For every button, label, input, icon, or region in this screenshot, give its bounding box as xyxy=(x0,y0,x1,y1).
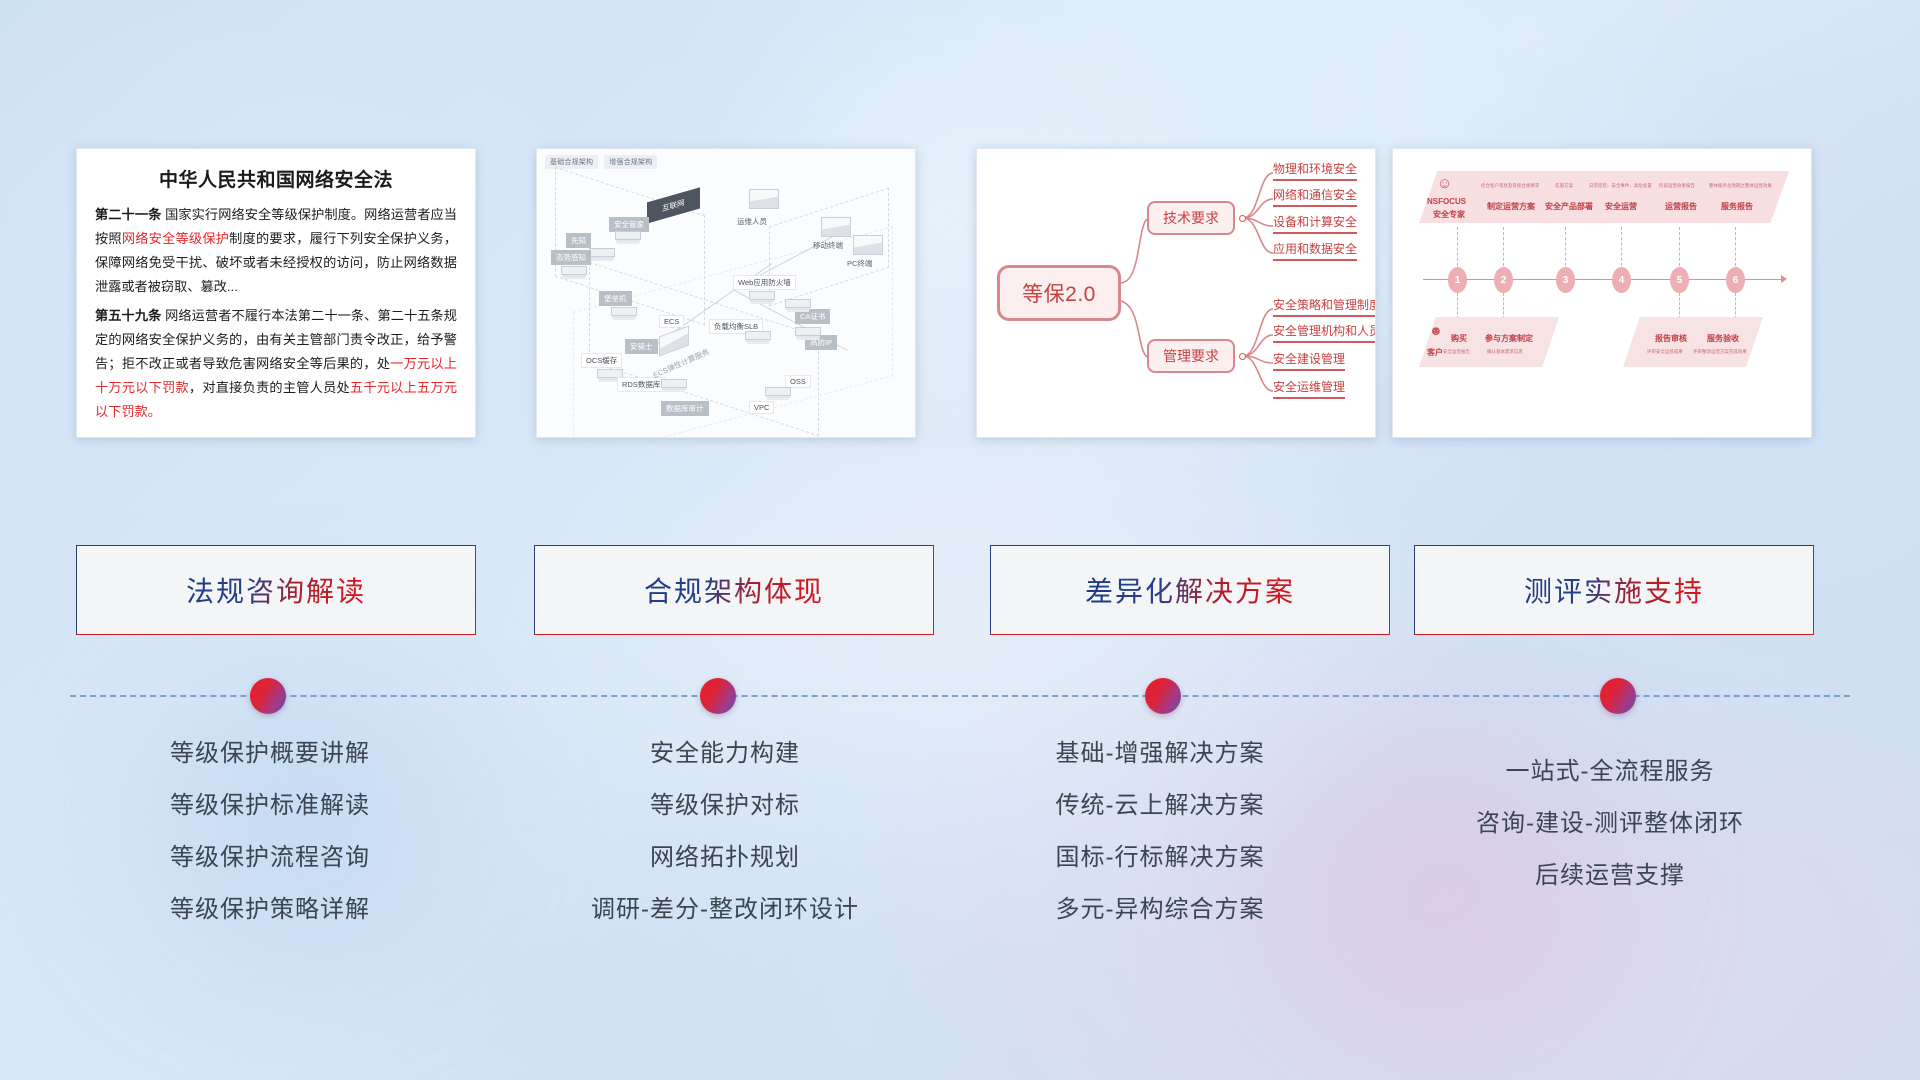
node-xianzhi-icon xyxy=(589,248,615,257)
list-item: 等级保护策略详解 xyxy=(50,898,490,922)
list-item: 等级保护对标 xyxy=(505,794,945,818)
card-service-flow: ☺ NSFOCUS 安全专家 结合客户现状及等保合规要求 制定运营方案 实施方案… xyxy=(1392,148,1812,438)
flow-dash-1 xyxy=(1457,227,1458,271)
mind-map-leaf-mgmt-2: 安全管理机构和人员 xyxy=(1273,323,1376,343)
article-59-label: 第五十九条 xyxy=(95,308,161,323)
list-item: 等级保护标准解读 xyxy=(50,794,490,818)
flow-dash-2 xyxy=(1503,227,1504,271)
list-item: 网络拓扑规划 xyxy=(505,846,945,870)
flow-dash-3 xyxy=(1565,227,1566,271)
bullet-column-4: 一站式-全流程服务 咨询-建设-测评整体闭环 后续运营支撑 xyxy=(1390,760,1830,916)
title-label-3: 差异化解决方案 xyxy=(1085,570,1295,610)
flow-banner-title-5: 服务报告 xyxy=(1721,201,1753,212)
mind-map-collapse-dot-management[interactable] xyxy=(1239,353,1246,360)
node-rds-icon xyxy=(661,379,687,388)
card-mind-map: 等保2.0 技术要求 物理和环境安全 网络和通信安全 设备和计算安全 应用和数据… xyxy=(976,148,1376,438)
flow-dash-down-6 xyxy=(1735,293,1736,319)
flow-tile-title-3: 报告审核 xyxy=(1655,333,1687,344)
card-law-text: 中华人民共和国网络安全法 第二十一条 国家实行网络安全等级保护制度。网络运营者应… xyxy=(76,148,476,438)
flow-dash-down-5 xyxy=(1679,293,1680,319)
list-item: 等级保护概要讲解 xyxy=(50,742,490,766)
list-item: 后续运营支撑 xyxy=(1390,864,1830,888)
node-ops-staff-label: 运维人员 xyxy=(733,215,771,228)
card-row: 中华人民共和国网络安全法 第二十一条 国家实行网络安全等级保护制度。网络运营者应… xyxy=(0,148,1920,448)
flow-step-5: 5 xyxy=(1670,267,1689,293)
flow-step-4: 4 xyxy=(1612,267,1631,293)
node-situation-awareness-label: 态势感知 xyxy=(551,250,591,265)
card-architecture-diagram: 基础合规架构 增强合规架构 互联网 安全管家 先知 态势感知 堡垒机 安骑士 xyxy=(536,148,916,438)
flow-banner-caption-2: 实施方案 xyxy=(1555,183,1573,189)
mind-map-leaf-tech-4: 应用和数据安全 xyxy=(1273,241,1357,261)
node-ops-staff-icon xyxy=(749,189,779,209)
flow-banner-caption-5: 整体服务总周期之整体运营效果 xyxy=(1709,183,1772,189)
node-mobile-terminal-label: 移动终端 xyxy=(809,239,847,252)
node-ca-cert-icon xyxy=(785,299,811,308)
flow-tile-caption-2: 确认基本需求信息 xyxy=(1487,349,1523,355)
node-bastion-host-label: 堡垒机 xyxy=(599,291,632,306)
bullet-column-3: 基础-增强解决方案 传统-云上解决方案 国标-行标解决方案 多元-异构综合方案 xyxy=(940,742,1380,950)
list-item: 等级保护流程咨询 xyxy=(50,846,490,870)
title-box-differentiated-solution[interactable]: 差异化解决方案 xyxy=(990,545,1390,635)
node-situation-awareness-icon xyxy=(561,266,587,275)
bullet-list-row: 等级保护概要讲解 等级保护标准解读 等级保护流程咨询 等级保护策略详解 安全能力… xyxy=(0,742,1920,972)
node-waf-icon xyxy=(749,291,775,300)
mind-map-collapse-dot-technical[interactable] xyxy=(1239,215,1246,222)
timeline-dot-3[interactable] xyxy=(1145,678,1181,714)
mind-map-leaf-tech-2: 网络和通信安全 xyxy=(1273,187,1357,207)
list-item: 国标-行标解决方案 xyxy=(940,846,1380,870)
list-item: 调研-差分-整改闭环设计 xyxy=(505,898,945,922)
flow-banner-title-1: 制定运营方案 xyxy=(1487,201,1535,212)
flow-tile-caption-3: 评审安全运营成果 xyxy=(1647,349,1683,355)
list-item: 咨询-建设-测评整体闭环 xyxy=(1390,812,1830,836)
node-security-butler-icon xyxy=(615,231,641,240)
architecture-canvas: 基础合规架构 增强合规架构 互联网 安全管家 先知 态势感知 堡垒机 安骑士 xyxy=(537,149,915,437)
mind-map-leaf-mgmt-3: 安全建设管理 xyxy=(1273,351,1345,371)
mind-map-canvas: 等保2.0 技术要求 物理和环境安全 网络和通信安全 设备和计算安全 应用和数据… xyxy=(977,149,1375,437)
tab-basic-compliance[interactable]: 基础合规架构 xyxy=(545,155,598,169)
service-flow-canvas: ☺ NSFOCUS 安全专家 结合客户现状及等保合规要求 制定运营方案 实施方案… xyxy=(1393,149,1811,437)
bullet-column-1: 等级保护概要讲解 等级保护标准解读 等级保护流程咨询 等级保护策略详解 xyxy=(50,742,490,950)
flow-banner-caption-4: 阶段运营效果报告 xyxy=(1659,183,1695,189)
flow-tile-title-2: 参与方案制定 xyxy=(1485,333,1533,344)
mind-map-branch-technical: 技术要求 xyxy=(1147,201,1235,235)
flow-step-6: 6 xyxy=(1726,267,1745,293)
node-slb-icon xyxy=(745,331,771,340)
flow-banner-title-2: 安全产品部署 xyxy=(1545,201,1593,212)
mind-map-leaf-tech-3: 设备和计算安全 xyxy=(1273,214,1357,234)
timeline-dot-4[interactable] xyxy=(1600,678,1636,714)
timeline-dashed-line xyxy=(70,695,1850,697)
flow-brand: NSFOCUS xyxy=(1427,197,1466,206)
node-pc-terminal-label: PC终端 xyxy=(843,257,876,270)
list-item: 多元-异构综合方案 xyxy=(940,898,1380,922)
title-box-row: 法规咨询解读 合规架构体现 差异化解决方案 测评实施支持 xyxy=(0,545,1920,641)
customer-avatar-icon: ☻ xyxy=(1429,323,1443,338)
node-mobile-terminal-icon xyxy=(821,217,851,237)
mind-map-leaf-mgmt-1: 安全策略和管理制度 xyxy=(1273,297,1376,317)
node-vpc-label: VPC xyxy=(749,401,774,414)
title-box-evaluation-support[interactable]: 测评实施支持 xyxy=(1414,545,1814,635)
architecture-tabs: 基础合规架构 增强合规架构 xyxy=(545,155,657,169)
node-xianzhi-label: 先知 xyxy=(566,233,591,248)
node-ocs-cache-label: OCS缓存 xyxy=(581,353,622,368)
flow-tile-title-4: 服务验收 xyxy=(1707,333,1739,344)
node-anti-ddos-ip-icon xyxy=(795,327,821,336)
mind-map-leaf-tech-1: 物理和环境安全 xyxy=(1273,161,1357,181)
node-oss-icon xyxy=(765,387,791,396)
timeline xyxy=(0,672,1920,720)
flow-dash-down-1 xyxy=(1457,293,1458,319)
flow-tile-caption-1: 安全运营报告 xyxy=(1443,349,1470,355)
mind-map-root: 等保2.0 xyxy=(997,265,1121,321)
title-label-2: 合规架构体现 xyxy=(644,570,824,610)
node-ecs-label: ECS xyxy=(659,315,684,328)
article-21-highlight: 网络安全等级保护 xyxy=(122,231,229,246)
list-item: 安全能力构建 xyxy=(505,742,945,766)
law-article-59: 第五十九条 网络运营者不履行本法第二十一条、第二十五条规定的网络安全保护义务的，… xyxy=(95,304,457,424)
article-21-label: 第二十一条 xyxy=(95,207,161,222)
node-waf-label: Web应用防火墙 xyxy=(733,275,796,290)
node-anqishi-label: 安骑士 xyxy=(625,339,658,354)
flow-banner-title-3: 安全运营 xyxy=(1605,201,1637,212)
flow-step-2: 2 xyxy=(1494,267,1513,293)
flow-tile-customer-right xyxy=(1623,317,1763,367)
node-bastion-host-icon xyxy=(611,307,637,316)
customer-label: 客户 xyxy=(1427,347,1443,358)
title-label-1: 法规咨询解读 xyxy=(186,570,366,610)
timeline-dot-2[interactable] xyxy=(700,678,736,714)
flow-dash-6 xyxy=(1735,227,1736,271)
flow-dash-5 xyxy=(1679,227,1680,271)
timeline-dot-1[interactable] xyxy=(250,678,286,714)
node-db-audit-label: 数据库审计 xyxy=(661,401,709,416)
flow-dash-4 xyxy=(1621,227,1622,271)
flow-banner-title-4: 运营报告 xyxy=(1665,201,1697,212)
mind-map-branch-management: 管理要求 xyxy=(1147,339,1235,373)
article-59-text-b: ，对直接负责的主管人员处 xyxy=(189,380,350,395)
title-label-4: 测评实施支持 xyxy=(1524,570,1704,610)
bullet-column-2: 安全能力构建 等级保护对标 网络拓扑规划 调研-差分-整改闭环设计 xyxy=(505,742,945,950)
flow-tile-title-1: 购买 xyxy=(1451,333,1467,344)
flow-tile-caption-4: 评审整改运营方案完成效果 xyxy=(1693,349,1747,355)
list-item: 基础-增强解决方案 xyxy=(940,742,1380,766)
flow-banner-caption-1: 结合客户现状及等保合规要求 xyxy=(1481,183,1539,189)
mind-map-leaf-mgmt-4: 安全运维管理 xyxy=(1273,379,1345,399)
list-item: 传统-云上解决方案 xyxy=(940,794,1380,818)
node-anti-ddos-ip-label: 高防IP xyxy=(805,335,837,350)
node-security-butler-label: 安全管家 xyxy=(609,217,649,232)
flow-banner xyxy=(1419,171,1789,223)
flow-dash-down-2 xyxy=(1503,293,1504,319)
flow-banner-caption-3: 日常巡检、安全事件、高危处置 xyxy=(1589,183,1652,189)
tab-enhanced-compliance[interactable]: 增强合规架构 xyxy=(604,155,657,169)
node-pc-terminal-icon xyxy=(853,235,883,255)
node-ca-cert-label: CA证书 xyxy=(795,309,830,324)
flow-brand-sub: 安全专家 xyxy=(1433,209,1465,220)
law-article-21: 第二十一条 国家实行网络安全等级保护制度。网络运营者应当按照网络安全等级保护制度… xyxy=(95,203,457,299)
flow-step-1: 1 xyxy=(1448,267,1467,293)
expert-avatar-icon: ☺ xyxy=(1437,175,1452,192)
flow-axis-arrow-icon xyxy=(1781,275,1787,283)
title-box-regulation-consulting[interactable]: 法规咨询解读 xyxy=(76,545,476,635)
list-item: 一站式-全流程服务 xyxy=(1390,760,1830,784)
flow-step-3: 3 xyxy=(1556,267,1575,293)
law-title: 中华人民共和国网络安全法 xyxy=(95,165,457,192)
law-content: 中华人民共和国网络安全法 第二十一条 国家实行网络安全等级保护制度。网络运营者应… xyxy=(77,149,475,436)
title-box-compliance-architecture[interactable]: 合规架构体现 xyxy=(534,545,934,635)
